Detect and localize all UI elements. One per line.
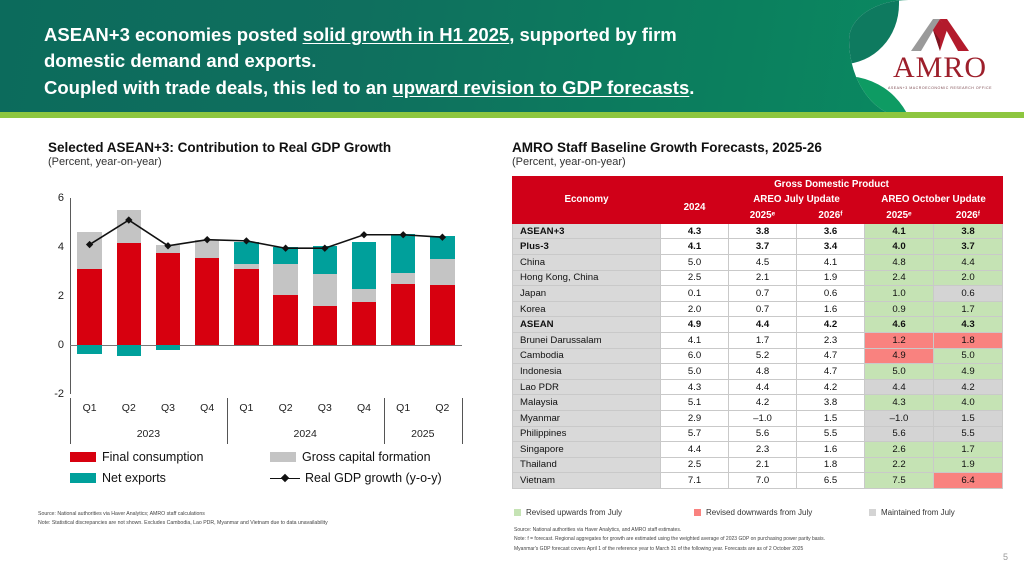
cell-oct-2025: 1.2: [865, 332, 934, 348]
cell-economy: Indonesia: [513, 364, 661, 380]
cell-july-2026: 1.5: [797, 410, 865, 426]
headline-line-3: Coupled with trade deals, this led to an…: [44, 75, 804, 101]
table-row: Malaysia5.14.23.84.34.0: [513, 395, 1003, 411]
cell-july-2025: 1.7: [729, 332, 797, 348]
cell-july-2025: 0.7: [729, 286, 797, 302]
table-note-line-2: Myanmar's GDP forecast covers April 1 of…: [514, 545, 1014, 554]
col-header-oct-2026: 2026ᶠ: [934, 208, 1003, 224]
table-row: Singapore4.42.31.62.61.7: [513, 442, 1003, 458]
cell-economy: Plus-3: [513, 239, 661, 255]
table-row: Cambodia6.05.24.74.95.0: [513, 348, 1003, 364]
table-row: Lao PDR4.34.44.24.44.2: [513, 379, 1003, 395]
table-header: Economy Gross Domestic Product 2024 AREO…: [513, 177, 1003, 224]
x-axis-quarter-label: Q3: [318, 402, 332, 414]
headline-line-1-post: , supported by firm: [509, 24, 677, 45]
table-legend: Revised upwards from July Revised downwa…: [514, 508, 1004, 517]
cell-july-2025: 2.1: [729, 457, 797, 473]
cell-2024: 4.1: [661, 239, 729, 255]
cell-july-2026: 1.6: [797, 301, 865, 317]
table-row: Brunei Darussalam4.11.72.31.21.8: [513, 332, 1003, 348]
x-axis-quarter-label: Q4: [357, 402, 371, 414]
cell-oct-2025: 4.3: [865, 395, 934, 411]
cell-oct-2025: 4.8: [865, 254, 934, 270]
cell-july-2025: 4.4: [729, 317, 797, 333]
cell-oct-2026: 1.9: [934, 457, 1003, 473]
cell-oct-2026: 5.0: [934, 348, 1003, 364]
cell-economy: Malaysia: [513, 395, 661, 411]
cell-oct-2026: 1.7: [934, 301, 1003, 317]
cell-oct-2025: 2.6: [865, 442, 934, 458]
cell-oct-2026: 2.0: [934, 270, 1003, 286]
x-axis-group-separator: [227, 398, 228, 444]
amro-wordmark: AMRO: [874, 53, 1006, 83]
cell-july-2025: 3.7: [729, 239, 797, 255]
legend-item-net-exports: Net exports: [70, 471, 270, 485]
col-header-october-update: AREO October Update: [865, 192, 1003, 208]
table-title: AMRO Staff Baseline Growth Forecasts, 20…: [512, 140, 822, 155]
cell-economy: Korea: [513, 301, 661, 317]
cell-july-2026: 4.2: [797, 317, 865, 333]
table-row: China5.04.54.14.84.4: [513, 254, 1003, 270]
legend-label: Revised upwards from July: [526, 508, 622, 517]
cell-economy: China: [513, 254, 661, 270]
cell-oct-2025: 5.6: [865, 426, 934, 442]
cell-oct-2026: 4.3: [934, 317, 1003, 333]
x-axis-year-label: 2025: [411, 428, 434, 440]
cell-july-2026: 4.7: [797, 348, 865, 364]
x-axis-quarter-label: Q1: [83, 402, 97, 414]
table-heading: AMRO Staff Baseline Growth Forecasts, 20…: [512, 140, 822, 168]
cell-oct-2025: 1.0: [865, 286, 934, 302]
cell-july-2025: 4.4: [729, 379, 797, 395]
cell-2024: 5.1: [661, 395, 729, 411]
table-body: ASEAN+34.33.83.64.13.8Plus-34.13.73.44.0…: [513, 223, 1003, 488]
cell-july-2025: 2.1: [729, 270, 797, 286]
chart-heading: Selected ASEAN+3: Contribution to Real G…: [48, 140, 391, 168]
cell-economy: ASEAN: [513, 317, 661, 333]
y-axis-tick-label: 2: [58, 290, 64, 302]
col-header-oct-2025: 2025ᵉ: [865, 208, 934, 224]
x-axis-year-label: 2023: [137, 428, 160, 440]
cell-oct-2025: 2.2: [865, 457, 934, 473]
chart-footnotes: Source: National authorities via Haver A…: [38, 510, 478, 528]
cell-economy: Philippines: [513, 426, 661, 442]
cell-july-2025: 3.8: [729, 223, 797, 239]
legend-swatch-icon: [270, 452, 296, 462]
table-row: Korea2.00.71.60.91.7: [513, 301, 1003, 317]
y-axis-tick-label: 0: [58, 339, 64, 351]
cell-2024: 2.0: [661, 301, 729, 317]
cell-2024: 0.1: [661, 286, 729, 302]
cell-2024: 5.0: [661, 254, 729, 270]
headline-line-1-pre: ASEAN+3 economies posted: [44, 24, 303, 45]
table-row: ASEAN+34.33.83.64.13.8: [513, 223, 1003, 239]
x-axis-group-separator: [462, 398, 463, 444]
legend-swatch-icon: [514, 509, 521, 516]
legend-item-final-consumption: Final consumption: [70, 450, 270, 464]
cell-july-2025: 4.8: [729, 364, 797, 380]
table-row: Plus-34.13.73.44.03.7: [513, 239, 1003, 255]
headline-line-1: ASEAN+3 economies posted solid growth in…: [44, 22, 804, 48]
legend-swatch-icon: [70, 452, 96, 462]
cell-july-2025: 4.5: [729, 254, 797, 270]
table-row: Hong Kong, China2.52.11.92.42.0: [513, 270, 1003, 286]
chart-subtitle: (Percent, year-on-year): [48, 156, 391, 168]
x-axis-quarter-label: Q1: [239, 402, 253, 414]
legend-swatch-icon: [694, 509, 701, 516]
cell-2024: 7.1: [661, 473, 729, 489]
cell-economy: Thailand: [513, 457, 661, 473]
cell-july-2026: 5.5: [797, 426, 865, 442]
forecast-table: Economy Gross Domestic Product 2024 AREO…: [512, 176, 1003, 489]
cell-july-2026: 0.6: [797, 286, 865, 302]
legend-line-marker-icon: [270, 473, 300, 483]
headline-line-3-underlined: upward revision to GDP forecasts: [392, 77, 689, 98]
cell-economy: Lao PDR: [513, 379, 661, 395]
cell-2024: 2.5: [661, 270, 729, 286]
table-row: Philippines5.75.65.55.65.5: [513, 426, 1003, 442]
cell-oct-2025: 2.4: [865, 270, 934, 286]
cell-july-2026: 4.1: [797, 254, 865, 270]
cell-july-2026: 6.5: [797, 473, 865, 489]
cell-july-2026: 1.8: [797, 457, 865, 473]
cell-economy: Japan: [513, 286, 661, 302]
cell-oct-2026: 4.9: [934, 364, 1003, 380]
x-axis-quarter-label: Q1: [396, 402, 410, 414]
cell-2024: 5.7: [661, 426, 729, 442]
cell-oct-2025: 7.5: [865, 473, 934, 489]
cell-economy: Cambodia: [513, 348, 661, 364]
cell-oct-2025: 4.1: [865, 223, 934, 239]
table-footnotes: Source: National authorities via Haver A…: [514, 526, 1014, 554]
x-axis-quarter-label: Q2: [435, 402, 449, 414]
table-note-line-1: Note: f = forecast. Regional aggregates …: [514, 535, 1014, 544]
x-axis-quarter-label: Q3: [161, 402, 175, 414]
col-header-economy: Economy: [513, 177, 661, 224]
cell-july-2026: 1.6: [797, 442, 865, 458]
table-row: ASEAN4.94.44.24.64.3: [513, 317, 1003, 333]
cell-2024: 2.9: [661, 410, 729, 426]
headline: ASEAN+3 economies posted solid growth in…: [44, 22, 804, 101]
cell-july-2025: 5.2: [729, 348, 797, 364]
cell-oct-2025: –1.0: [865, 410, 934, 426]
legend-item-gross-capital-formation: Gross capital formation: [270, 450, 431, 464]
headline-line-3-pre: Coupled with trade deals, this led to an: [44, 77, 392, 98]
col-header-july-update: AREO July Update: [729, 192, 865, 208]
cell-2024: 6.0: [661, 348, 729, 364]
cell-economy: Hong Kong, China: [513, 270, 661, 286]
cell-july-2025: 7.0: [729, 473, 797, 489]
cell-oct-2025: 4.6: [865, 317, 934, 333]
table-source-note: Source: National authorities via Haver A…: [514, 526, 1014, 535]
cell-july-2025: 5.6: [729, 426, 797, 442]
cell-oct-2025: 4.0: [865, 239, 934, 255]
cell-july-2026: 3.4: [797, 239, 865, 255]
forecast-table-wrapper: Economy Gross Domestic Product 2024 AREO…: [512, 176, 1002, 489]
cell-july-2025: 4.2: [729, 395, 797, 411]
amro-logo: AMRO ASEAN+3 MACROECONOMIC RESEARCH OFFI…: [874, 18, 1006, 90]
legend-label: Revised downwards from July: [706, 508, 812, 517]
col-header-gdp: Gross Domestic Product: [661, 177, 1003, 193]
chart-canvas: -20246: [70, 198, 462, 394]
table-row: Indonesia5.04.84.75.04.9: [513, 364, 1003, 380]
cell-oct-2026: 4.0: [934, 395, 1003, 411]
legend-item-real-gdp-growth: Real GDP growth (y-o-y): [270, 471, 442, 485]
amro-chevron-icon: [909, 18, 971, 52]
legend-label: Final consumption: [102, 450, 203, 464]
cell-economy: Brunei Darussalam: [513, 332, 661, 348]
col-header-july-2025: 2025ᵉ: [729, 208, 797, 224]
table-row: Myanmar2.9–1.01.5–1.01.5: [513, 410, 1003, 426]
cell-july-2026: 1.9: [797, 270, 865, 286]
col-header-2024: 2024: [661, 192, 729, 223]
cell-2024: 4.3: [661, 379, 729, 395]
cell-oct-2026: 6.4: [934, 473, 1003, 489]
amro-subtitle: ASEAN+3 MACROECONOMIC RESEARCH OFFICE: [874, 86, 1006, 90]
table-row: Vietnam7.17.06.57.56.4: [513, 473, 1003, 489]
headline-line-2: domestic demand and exports.: [44, 48, 804, 74]
cell-july-2025: 0.7: [729, 301, 797, 317]
chart-source-note: Source: National authorities via Haver A…: [38, 510, 478, 519]
cell-economy: ASEAN+3: [513, 223, 661, 239]
cell-july-2026: 2.3: [797, 332, 865, 348]
cell-july-2026: 3.8: [797, 395, 865, 411]
cell-july-2026: 4.7: [797, 364, 865, 380]
cell-july-2026: 3.6: [797, 223, 865, 239]
header-banner: ASEAN+3 economies posted solid growth in…: [0, 0, 1024, 118]
cell-2024: 4.1: [661, 332, 729, 348]
cell-oct-2026: 1.7: [934, 442, 1003, 458]
cell-oct-2026: 0.6: [934, 286, 1003, 302]
cell-2024: 2.5: [661, 457, 729, 473]
table-row: Thailand2.52.11.82.21.9: [513, 457, 1003, 473]
col-header-july-2026: 2026ᶠ: [797, 208, 865, 224]
cell-2024: 5.0: [661, 364, 729, 380]
headline-line-1-underlined: solid growth in H1 2025: [303, 24, 510, 45]
chart-plot-area: -20246 Q1Q2Q3Q4Q1Q2Q3Q4Q1Q2202320242025: [36, 190, 486, 468]
cell-july-2025: 2.3: [729, 442, 797, 458]
cell-2024: 4.9: [661, 317, 729, 333]
cell-oct-2026: 1.8: [934, 332, 1003, 348]
table-header-row-1: Economy Gross Domestic Product: [513, 177, 1003, 193]
legend-label: Real GDP growth (y-o-y): [305, 471, 442, 485]
table-panel: AMRO Staff Baseline Growth Forecasts, 20…: [505, 118, 1024, 576]
y-axis-tick-label: 4: [58, 241, 64, 253]
x-axis-quarter-label: Q2: [122, 402, 136, 414]
y-axis-tick-label: 6: [58, 192, 64, 204]
table-legend-item-downwards: Revised downwards from July: [694, 508, 869, 517]
legend-label: Net exports: [102, 471, 166, 485]
y-axis-tick-label: -2: [54, 388, 64, 400]
cell-oct-2025: 0.9: [865, 301, 934, 317]
cell-oct-2026: 1.5: [934, 410, 1003, 426]
x-axis-group-separator: [70, 398, 71, 444]
cell-2024: 4.4: [661, 442, 729, 458]
table-legend-item-maintained: Maintained from July: [869, 508, 955, 517]
x-axis-quarter-label: Q4: [200, 402, 214, 414]
legend-swatch-icon: [70, 473, 96, 483]
cell-2024: 4.3: [661, 223, 729, 239]
cell-oct-2026: 3.7: [934, 239, 1003, 255]
page-number: 5: [1003, 552, 1008, 562]
x-axis-year-label: 2024: [294, 428, 317, 440]
cell-economy: Vietnam: [513, 473, 661, 489]
cell-oct-2026: 4.4: [934, 254, 1003, 270]
cell-oct-2025: 4.9: [865, 348, 934, 364]
cell-oct-2026: 3.8: [934, 223, 1003, 239]
legend-label: Maintained from July: [881, 508, 955, 517]
chart-title: Selected ASEAN+3: Contribution to Real G…: [48, 140, 391, 155]
gdp-growth-line: [70, 198, 462, 394]
table-legend-item-upwards: Revised upwards from July: [514, 508, 694, 517]
table-subtitle: (Percent, year-on-year): [512, 156, 822, 168]
x-axis-group-separator: [384, 398, 385, 444]
legend-label: Gross capital formation: [302, 450, 431, 464]
x-axis-quarter-label: Q2: [279, 402, 293, 414]
cell-oct-2025: 4.4: [865, 379, 934, 395]
cell-oct-2026: 5.5: [934, 426, 1003, 442]
cell-economy: Myanmar: [513, 410, 661, 426]
legend-swatch-icon: [869, 509, 876, 516]
cell-july-2026: 4.2: [797, 379, 865, 395]
cell-oct-2025: 5.0: [865, 364, 934, 380]
chart-panel: Selected ASEAN+3: Contribution to Real G…: [0, 118, 505, 576]
cell-oct-2026: 4.2: [934, 379, 1003, 395]
chart-note: Note: Statistical discrepancies are not …: [38, 519, 478, 528]
cell-economy: Singapore: [513, 442, 661, 458]
cell-july-2025: –1.0: [729, 410, 797, 426]
chart-legend: Final consumption Gross capital formatio…: [70, 450, 490, 492]
headline-line-3-post: .: [689, 77, 694, 98]
table-row: Japan0.10.70.61.00.6: [513, 286, 1003, 302]
